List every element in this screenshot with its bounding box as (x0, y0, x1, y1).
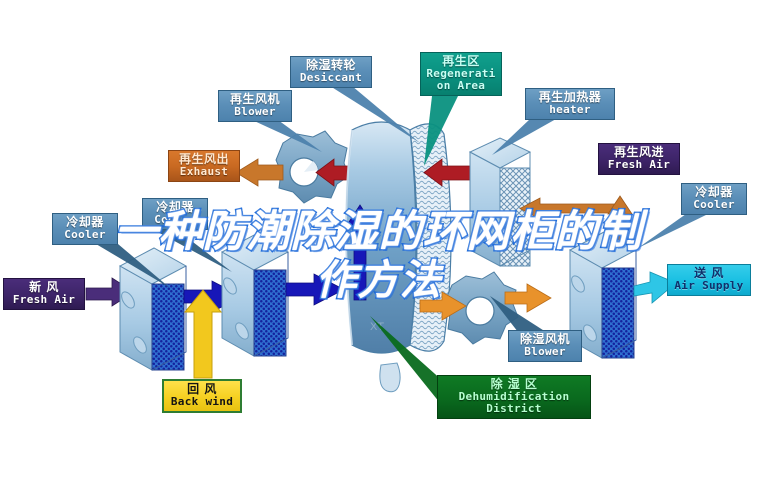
label-regeneration-fresh-air-in-cn: 再生风进 (604, 146, 674, 159)
label-dehumidification-district[interactable]: 除 湿 区 Dehumidification District (437, 375, 591, 419)
label-regeneration-fresh-air-in-en: Fresh Air (604, 159, 674, 171)
exhaust-arrow-icon (236, 159, 283, 186)
cooler-left-outer-icon (119, 248, 186, 370)
regeneration-heater-icon (470, 138, 530, 266)
label-desiccant-rotor-cn: 除湿转轮 (296, 59, 366, 72)
label-dehumidification-blower-en: Blower (514, 346, 576, 358)
label-cooler-left-inner-cn: 冷却器 (148, 201, 202, 214)
label-back-wind[interactable]: 回 风 Back wind (162, 379, 242, 413)
label-desiccant-rotor-en: Desiccant (296, 72, 366, 84)
label-regeneration-blower-en: Blower (224, 106, 286, 118)
label-fresh-air-in-en: Fresh Air (9, 294, 79, 306)
label-cooler-left-outer-cn: 冷却器 (58, 216, 112, 229)
label-air-supply-en: Air Supply (673, 280, 745, 292)
label-cooler-left-inner-en: Cooler (148, 214, 202, 226)
label-regeneration-blower-cn: 再生风机 (224, 93, 286, 106)
label-exhaust-en: Exhaust (174, 166, 234, 178)
label-exhaust-cn: 再生风出 (174, 153, 234, 166)
label-cooler-left-outer-en: Cooler (58, 229, 112, 241)
label-regeneration-area[interactable]: 再生区 Regenerati on Area (420, 52, 502, 96)
label-regeneration-heater-en: heater (531, 104, 609, 116)
regen-intake-arrow (520, 198, 620, 219)
cooler-left-inner-icon (221, 234, 288, 356)
diagram-canvas: XT (0, 0, 757, 488)
label-dehumidification-district-en2: District (443, 403, 585, 415)
label-back-wind-en: Back wind (169, 396, 235, 408)
label-cooler-right-en: Cooler (687, 199, 741, 211)
label-fresh-air-in[interactable]: 新 风 Fresh Air (3, 278, 85, 310)
process-arrow-2 (286, 274, 344, 305)
label-fresh-air-in-cn: 新 风 (9, 281, 79, 294)
label-desiccant-rotor[interactable]: 除湿转轮 Desiccant (290, 56, 372, 88)
label-regeneration-blower[interactable]: 再生风机 Blower (218, 90, 292, 122)
label-dehumidification-district-cn: 除 湿 区 (443, 378, 585, 391)
label-regeneration-area-en2: on Area (426, 80, 496, 92)
label-cooler-right[interactable]: 冷却器 Cooler (681, 183, 747, 215)
label-air-supply-cn: 送 风 (673, 267, 745, 280)
label-cooler-right-cn: 冷却器 (687, 186, 741, 199)
label-dehumidification-blower-cn: 除湿风机 (514, 333, 576, 346)
label-cooler-left-inner[interactable]: 冷却器 Cooler (142, 198, 208, 230)
label-regeneration-area-cn: 再生区 (426, 55, 496, 68)
label-exhaust[interactable]: 再生风出 Exhaust (168, 150, 240, 182)
label-cooler-left-outer[interactable]: 冷却器 Cooler (52, 213, 118, 245)
label-dehumidification-blower[interactable]: 除湿风机 Blower (508, 330, 582, 362)
label-regeneration-heater[interactable]: 再生加热器 heater (525, 88, 615, 120)
label-air-supply[interactable]: 送 风 Air Supply (667, 264, 751, 296)
label-back-wind-cn: 回 风 (169, 383, 235, 396)
label-regeneration-heater-cn: 再生加热器 (531, 91, 609, 104)
label-regeneration-fresh-air-in[interactable]: 再生风进 Fresh Air (598, 143, 680, 175)
